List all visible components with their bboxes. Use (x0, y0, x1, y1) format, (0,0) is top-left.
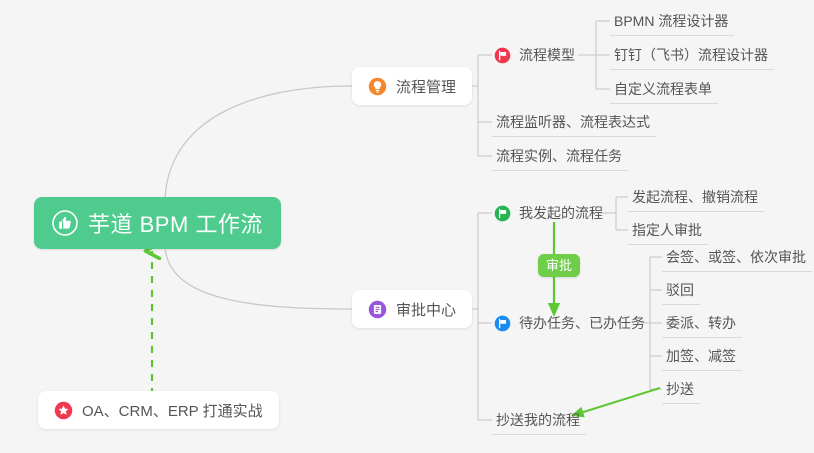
node-label-my-initiated: 我发起的流程 (519, 203, 603, 223)
node-label-process-model: 流程模型 (519, 45, 575, 65)
node-bpmn-designer[interactable]: BPMN 流程设计器 (610, 6, 734, 36)
node-label-assignee-approval: 指定人审批 (632, 220, 702, 240)
link-root-to-approval-center (165, 246, 352, 309)
node-custom-form[interactable]: 自定义流程表单 (610, 74, 718, 104)
node-assignee-approval[interactable]: 指定人审批 (628, 215, 708, 245)
node-label-start-cancel-process: 发起流程、撤销流程 (632, 187, 758, 207)
node-dingtalk-designer[interactable]: 钉钉（飞书）流程设计器 (610, 40, 774, 70)
thumbs-up-icon (52, 210, 78, 236)
node-delegate-transfer[interactable]: 委派、转办 (662, 308, 742, 338)
node-process-instance[interactable]: 流程实例、流程任务 (492, 141, 628, 171)
node-label-delegate-transfer: 委派、转办 (666, 313, 736, 333)
node-label-custom-form: 自定义流程表单 (614, 79, 712, 99)
node-reject[interactable]: 驳回 (662, 275, 700, 305)
link-root-to-process-management (165, 86, 352, 200)
node-label-process-instance: 流程实例、流程任务 (496, 146, 622, 166)
node-process-model[interactable]: 流程模型 (492, 40, 581, 70)
note-node[interactable]: OA、CRM、ERP 打通实战 (38, 391, 279, 429)
approve-tag[interactable]: 审批 (538, 254, 580, 277)
node-process-listener[interactable]: 流程监听器、流程表达式 (492, 107, 656, 137)
node-label-bpmn-designer: BPMN 流程设计器 (614, 11, 728, 31)
branch-node-approval-center[interactable]: 审批中心 (352, 290, 472, 328)
flag-icon (494, 315, 511, 332)
node-label-process-listener: 流程监听器、流程表达式 (496, 112, 650, 132)
node-label-countersign: 会签、或签、依次审批 (666, 247, 806, 267)
cc-flow-arrow (577, 388, 660, 414)
clipboard-icon (368, 300, 387, 319)
approve-tag-label: 审批 (546, 258, 572, 273)
note-node-label: OA、CRM、ERP 打通实战 (82, 400, 263, 421)
node-label-todo-done-tasks: 待办任务、已办任务 (519, 313, 645, 333)
root-node[interactable]: 芋道 BPM 工作流 (34, 197, 281, 249)
root-node-label: 芋道 BPM 工作流 (88, 207, 263, 239)
node-label-cc-to-me: 抄送我的流程 (496, 410, 580, 430)
mindmap-canvas: 芋道 BPM 工作流 OA、CRM、ERP 打通实战 流程管理 (0, 0, 814, 453)
star-icon (54, 401, 73, 420)
branch-label-approval-center: 审批中心 (396, 299, 456, 320)
node-label-dingtalk-designer: 钉钉（飞书）流程设计器 (614, 45, 768, 65)
node-my-initiated[interactable]: 我发起的流程 (492, 198, 609, 228)
lightbulb-icon (368, 77, 387, 96)
node-label-carbon-copy: 抄送 (666, 379, 694, 399)
branch-label-process-management: 流程管理 (396, 76, 456, 97)
node-carbon-copy[interactable]: 抄送 (662, 374, 700, 404)
node-cc-to-me[interactable]: 抄送我的流程 (492, 405, 586, 435)
node-countersign[interactable]: 会签、或签、依次审批 (662, 242, 812, 272)
node-start-cancel-process[interactable]: 发起流程、撤销流程 (628, 182, 764, 212)
flag-icon (494, 205, 511, 222)
flag-icon (494, 47, 511, 64)
node-label-add-remove-sign: 加签、减签 (666, 346, 736, 366)
node-add-remove-sign[interactable]: 加签、减签 (662, 341, 742, 371)
branch-node-process-management[interactable]: 流程管理 (352, 67, 472, 105)
node-todo-done-tasks[interactable]: 待办任务、已办任务 (492, 308, 651, 338)
node-label-reject: 驳回 (666, 280, 694, 300)
